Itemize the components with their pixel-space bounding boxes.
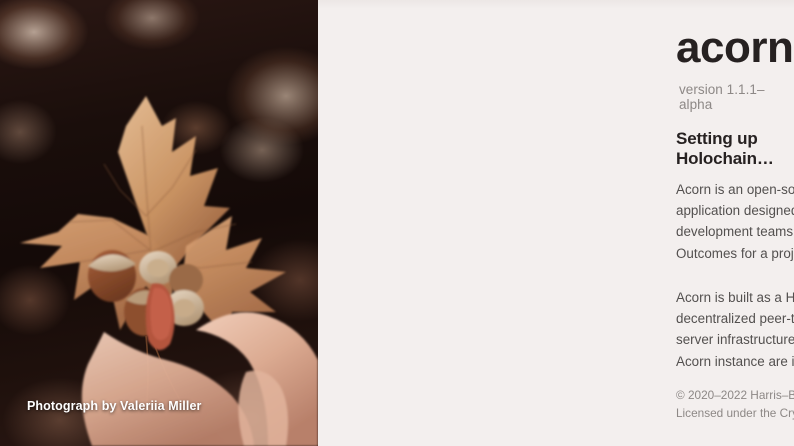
copyright-line: © 2020–2022 Harris–Braun Enterprises, LL…	[676, 386, 794, 404]
leaf-and-acorns-illustration	[0, 0, 318, 446]
license-line: Licensed under the Cryptographic Autonom…	[676, 404, 794, 422]
setup-status-heading: Setting up Holochain…	[676, 129, 794, 169]
legal-footer: © 2020–2022 Harris–Braun Enterprises, LL…	[676, 386, 794, 422]
app-version-label: version 1.1.1–alpha	[679, 82, 794, 112]
window-drag-strip[interactable]	[318, 0, 794, 9]
splash-screen: Photograph by Valeriia Miller acorn vers…	[0, 0, 794, 446]
about-paragraph-1: Acorn is an open-source, peer-to-peer pr…	[676, 179, 794, 264]
about-paragraph-2: Acorn is built as a Holochain applicatio…	[676, 287, 794, 372]
app-logo-wordmark: acorn	[676, 26, 793, 70]
splash-photo-panel: Photograph by Valeriia Miller	[0, 0, 318, 446]
photo-credit: Photograph by Valeriia Miller	[27, 399, 201, 413]
splash-content-panel: acorn version 1.1.1–alpha Setting up Hol…	[318, 0, 794, 446]
